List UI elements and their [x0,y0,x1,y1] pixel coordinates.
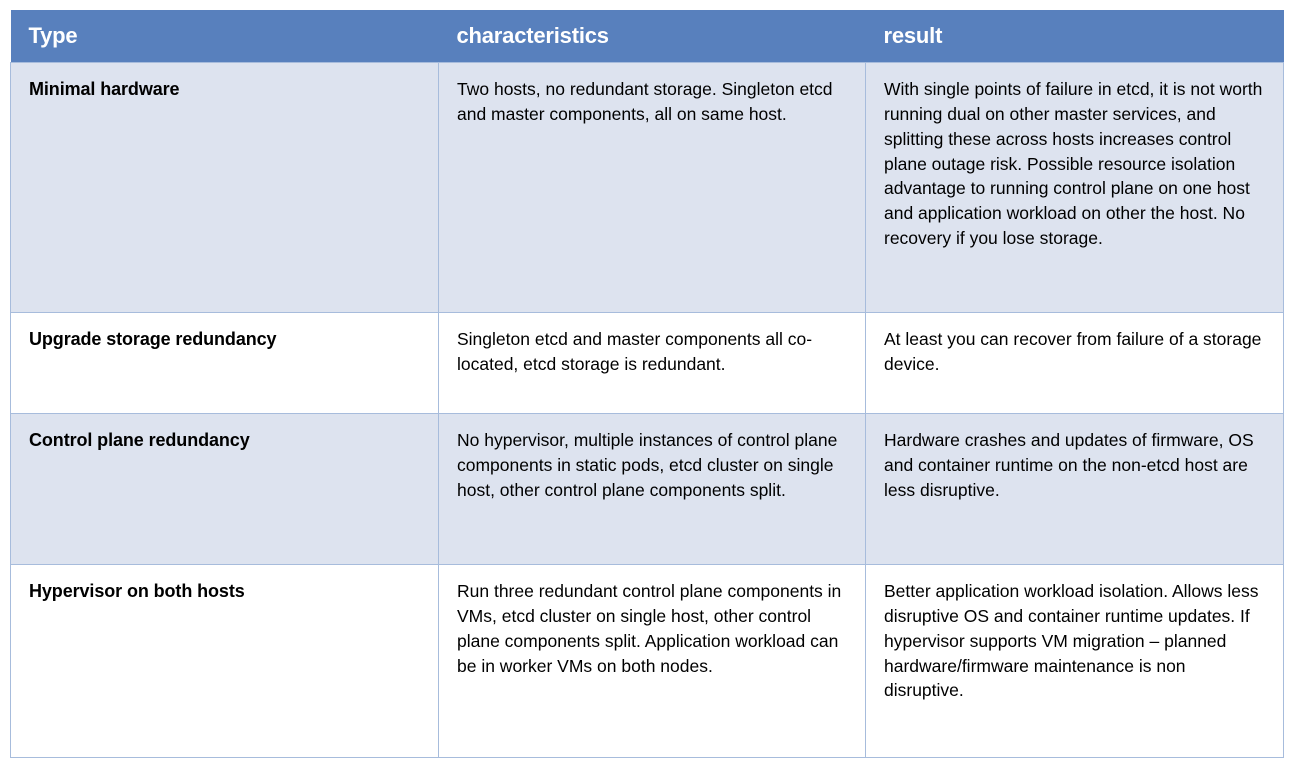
table-header-row: Type characteristics result [11,10,1284,63]
cell-type: Hypervisor on both hosts [11,565,439,758]
cell-characteristics: No hypervisor, multiple instances of con… [439,414,866,565]
column-header-result[interactable]: result [866,10,1284,63]
cell-type: Upgrade storage redundancy [11,313,439,414]
cell-result: Hardware crashes and updates of firmware… [866,414,1284,565]
cell-characteristics: Singleton etcd and master components all… [439,313,866,414]
cell-result: At least you can recover from failure of… [866,313,1284,414]
table-row: Minimal hardware Two hosts, no redundant… [11,63,1284,313]
cell-characteristics: Run three redundant control plane compon… [439,565,866,758]
cell-characteristics: Two hosts, no redundant storage. Singlet… [439,63,866,313]
cell-type: Control plane redundancy [11,414,439,565]
table-row: Control plane redundancy No hypervisor, … [11,414,1284,565]
page-root: Type characteristics result Minimal hard… [0,0,1302,708]
deployment-comparison-table: Type characteristics result Minimal hard… [10,10,1284,758]
cell-result: Better application workload isolation. A… [866,565,1284,758]
column-header-characteristics[interactable]: characteristics [439,10,866,63]
table-row: Hypervisor on both hosts Run three redun… [11,565,1284,758]
table-header: Type characteristics result [11,10,1284,63]
column-header-type[interactable]: Type [11,10,439,63]
table-row: Upgrade storage redundancy Singleton etc… [11,313,1284,414]
cell-result: With single points of failure in etcd, i… [866,63,1284,313]
table-body: Minimal hardware Two hosts, no redundant… [11,63,1284,758]
cell-type: Minimal hardware [11,63,439,313]
